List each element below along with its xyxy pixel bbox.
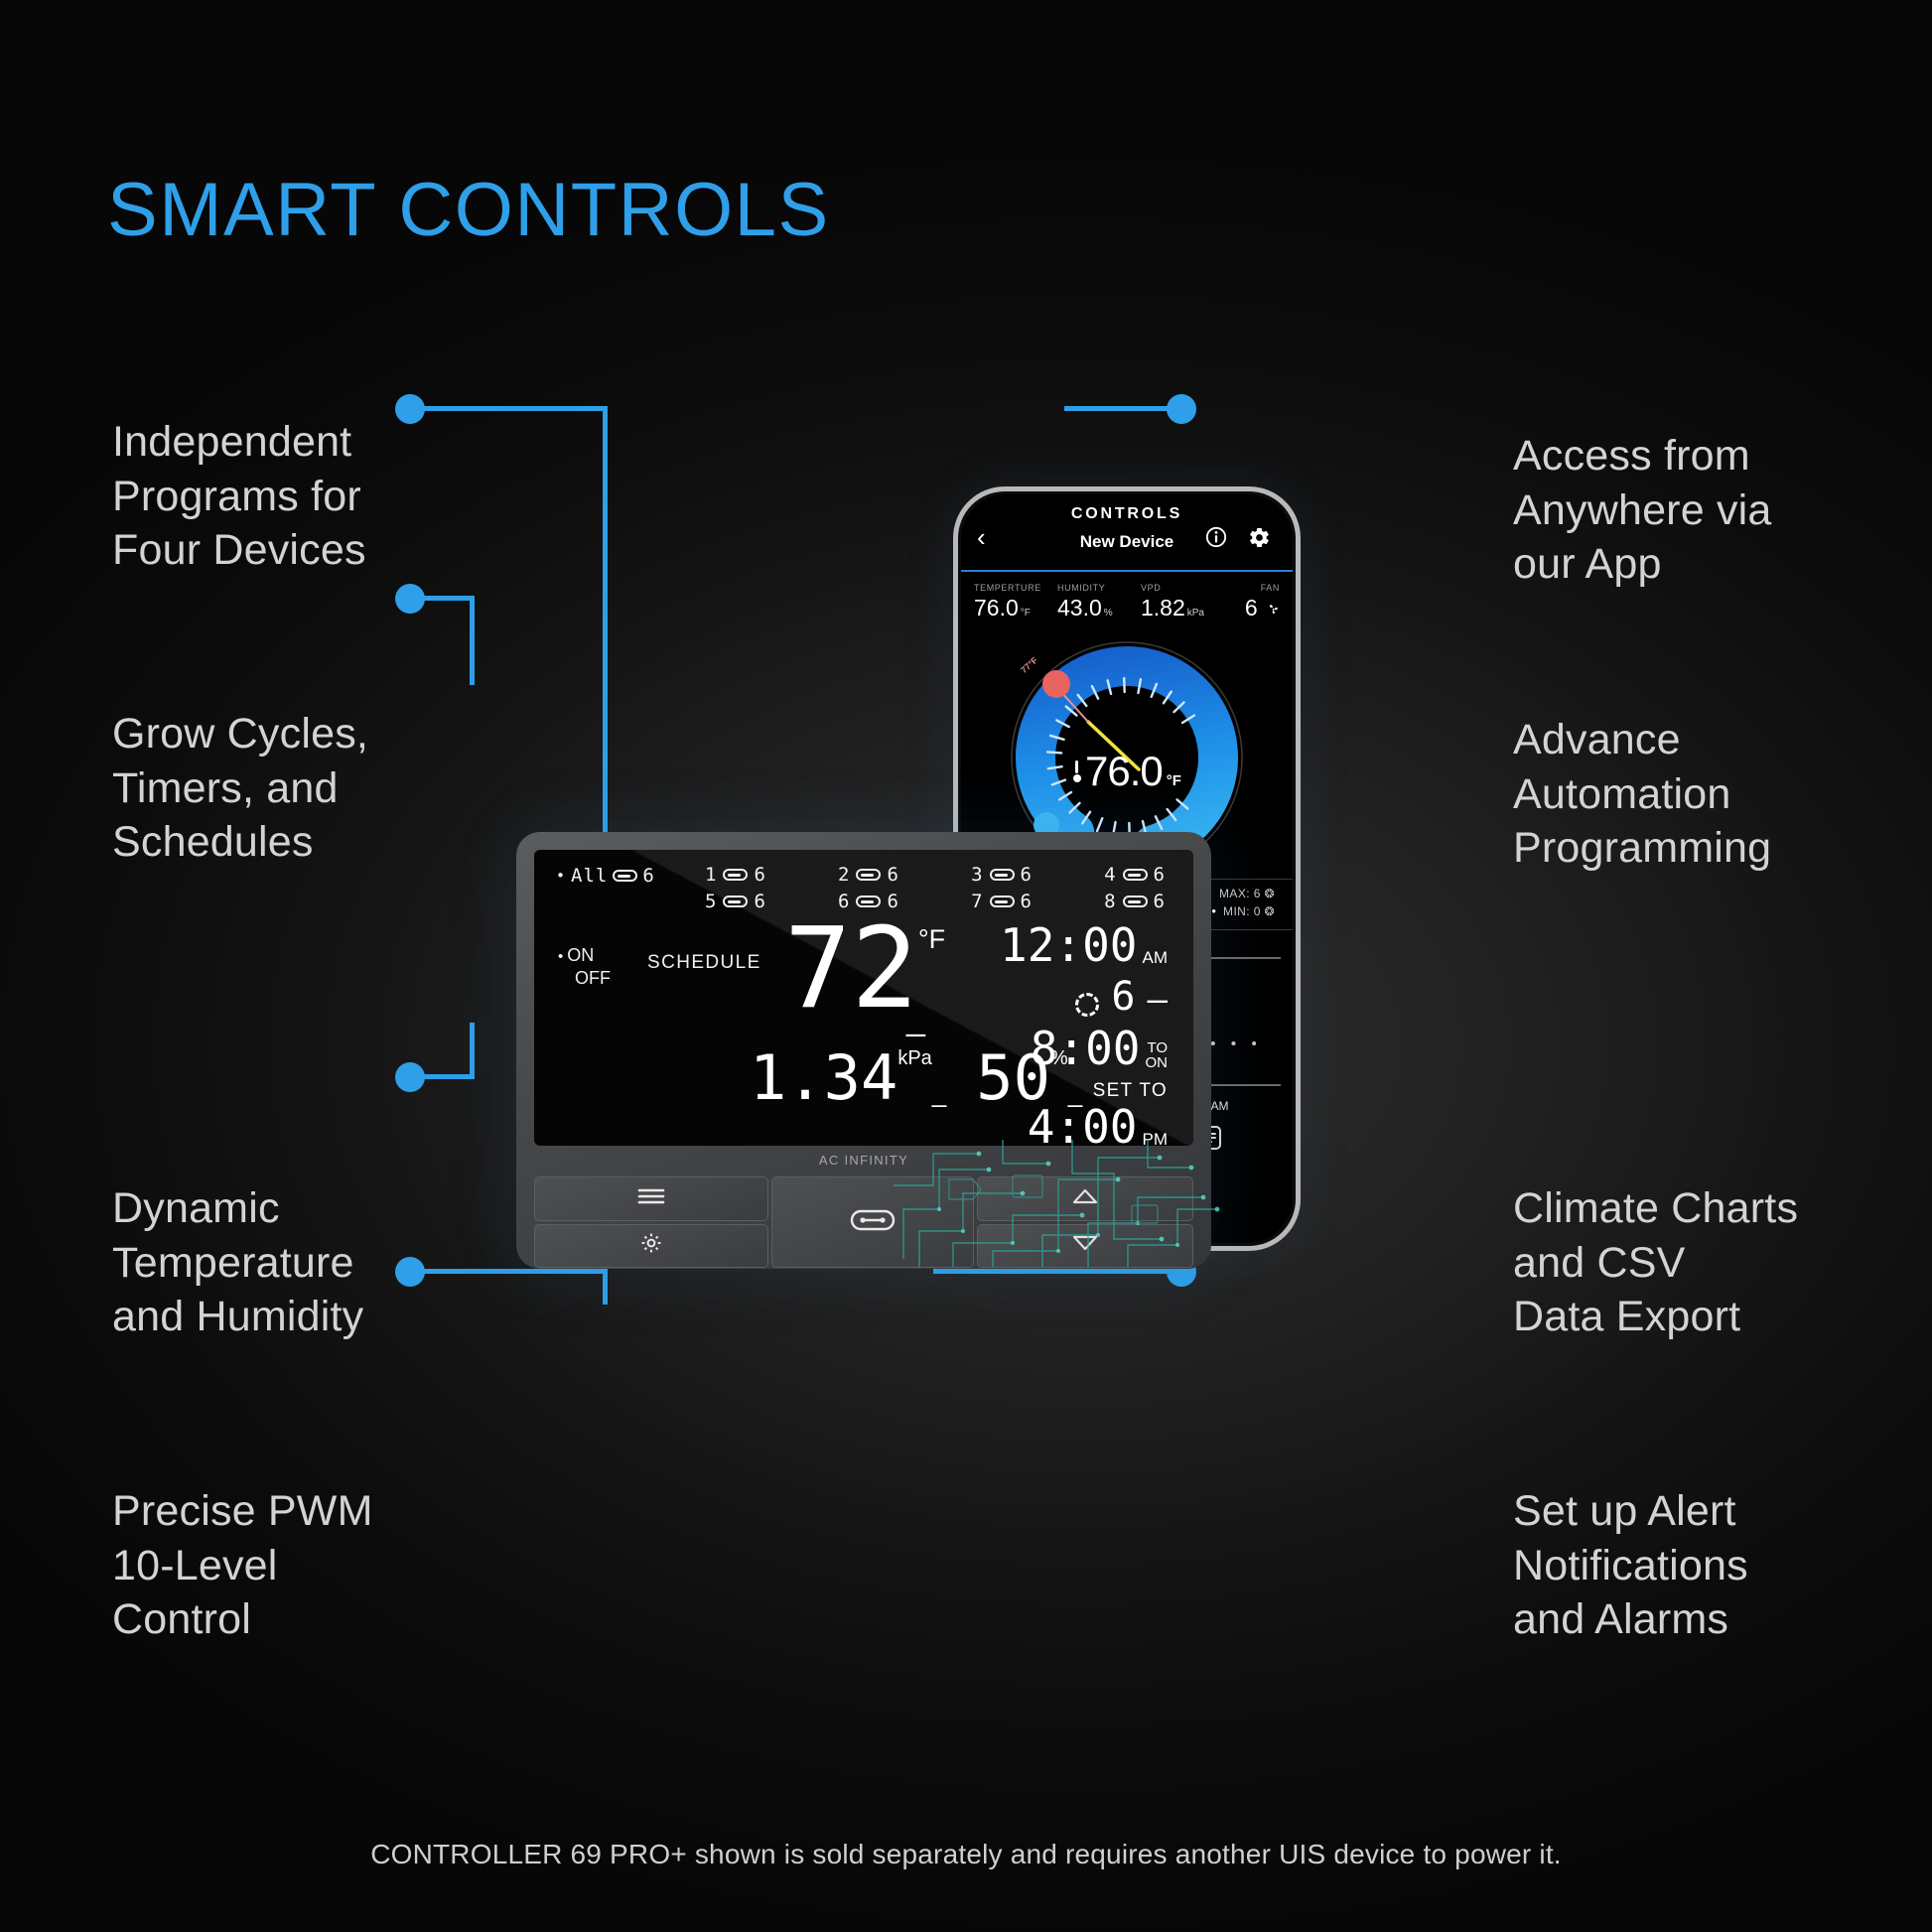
max-value: 6 bbox=[1254, 887, 1261, 900]
lcd-ports: 16 56 26 66 36 76 46 86 bbox=[705, 864, 1172, 912]
lcd-timer-toon: TO ON bbox=[1146, 1040, 1169, 1072]
port-7: 76 bbox=[971, 891, 1033, 912]
lcd-schedule-label: SCHEDULE bbox=[647, 952, 761, 974]
controller-lcd-screen: • All 6 16 56 26 66 36 7 bbox=[534, 850, 1193, 1146]
controller-brand: AC INFINITY bbox=[534, 1146, 1193, 1176]
all-bullet-icon: • bbox=[556, 867, 566, 885]
infographic-stage: SMART CONTROLS Independent Programs for … bbox=[0, 0, 1932, 1932]
port-pill-icon bbox=[1123, 896, 1148, 907]
lcd-main-area: •ON OFF SCHEDULE 72 °F _ 1.34 kPa _ bbox=[556, 922, 1172, 1146]
port-pill-icon bbox=[723, 869, 748, 881]
lcd-setto-label: SET TO bbox=[959, 1080, 1168, 1102]
feature-label-dynamic-temp: Dynamic Temperature and Humidity bbox=[112, 1181, 363, 1344]
stat-label: TEMPERTURE bbox=[974, 583, 1053, 593]
info-icon[interactable] bbox=[1205, 526, 1227, 553]
port-3: 36 bbox=[971, 864, 1033, 886]
connector-line bbox=[1064, 406, 1173, 411]
gauge-value: 76.0 bbox=[1085, 748, 1163, 795]
lcd-clock-ampm: AM bbox=[1143, 948, 1169, 968]
settings-button[interactable] bbox=[534, 1224, 768, 1269]
stat-value: 76.0°F bbox=[974, 595, 1053, 621]
connector-line bbox=[933, 1269, 1173, 1274]
stat-temperature: TEMPERTURE 76.0°F bbox=[974, 583, 1053, 621]
connector-line bbox=[470, 1023, 475, 1077]
lcd-fan-level: 6 – bbox=[959, 977, 1168, 1017]
lcd-setto: 4:00 PM bbox=[959, 1104, 1168, 1146]
all-label: All bbox=[571, 865, 608, 887]
port-5: 56 bbox=[705, 891, 766, 912]
feature-label-access-anywhere: Access from Anywhere via our App bbox=[1513, 429, 1772, 592]
connector-line bbox=[423, 1074, 475, 1079]
min-bullet-icon: • bbox=[1211, 903, 1216, 918]
stat-value: 43.0% bbox=[1057, 595, 1137, 621]
stat-unit: kPa bbox=[1187, 608, 1204, 619]
phone-device-name: New Device bbox=[961, 532, 1293, 552]
phone-stat-row: TEMPERTURE 76.0°F HUMIDITY 43.0% VPD 1.8… bbox=[961, 572, 1293, 630]
port-1: 16 bbox=[705, 864, 766, 886]
connector-dot-independent-programs bbox=[395, 394, 425, 424]
port-column: 16 56 bbox=[705, 864, 766, 912]
stat-unit: °F bbox=[1021, 608, 1031, 619]
lcd-timer-on: ON bbox=[1146, 1055, 1169, 1071]
connector-line bbox=[423, 1269, 608, 1274]
controller-left-buttons bbox=[534, 1176, 768, 1268]
port-column: 36 76 bbox=[971, 864, 1033, 912]
lcd-setto-ampm: PM bbox=[1143, 1130, 1169, 1146]
gauge-readout: 76.0 °F bbox=[1072, 748, 1181, 795]
gauge-handle-high bbox=[1042, 670, 1070, 698]
controller-arrow-buttons bbox=[977, 1176, 1193, 1268]
page-title: SMART CONTROLS bbox=[107, 167, 830, 253]
controller-button-row bbox=[534, 1176, 1193, 1268]
port-column: 46 86 bbox=[1104, 864, 1166, 912]
on-bullet-icon: • bbox=[558, 948, 563, 965]
lcd-setto-value: 4:00 bbox=[1028, 1104, 1138, 1146]
port-pill-icon bbox=[613, 870, 637, 882]
feature-label-precise-pwm: Precise PWM 10-Level Control bbox=[112, 1484, 373, 1647]
stat-value: 1.82kPa bbox=[1141, 595, 1220, 621]
lcd-vpd-value: 1.34 bbox=[750, 1047, 897, 1109]
port-pill-icon bbox=[990, 869, 1015, 881]
port-pill-icon bbox=[856, 869, 881, 881]
connector-line bbox=[470, 596, 475, 685]
lcd-timer: 8:00 TO ON bbox=[959, 1026, 1168, 1071]
stat-unit: % bbox=[1104, 608, 1113, 619]
lcd-vpd-unit: kPa bbox=[897, 1047, 931, 1070]
all-value: 6 bbox=[642, 865, 654, 887]
port-pill-icon bbox=[1123, 869, 1148, 881]
max-label: MAX: bbox=[1219, 887, 1250, 900]
feature-label-independent-programs: Independent Programs for Four Devices bbox=[112, 415, 366, 578]
feature-label-grow-cycles: Grow Cycles, Timers, and Schedules bbox=[112, 707, 368, 870]
lcd-fan-value: 6 bbox=[1111, 977, 1135, 1017]
port-8: 86 bbox=[1104, 891, 1166, 912]
menu-button[interactable] bbox=[534, 1176, 768, 1221]
lcd-timer-to: TO bbox=[1146, 1040, 1169, 1056]
stat-vpd: VPD 1.82kPa bbox=[1141, 583, 1220, 621]
stat-label: FAN bbox=[1224, 583, 1280, 593]
gear-icon bbox=[639, 1231, 663, 1260]
phone-app-header: ‹ CONTROLS New Device bbox=[961, 494, 1293, 572]
fan-icon: ❂ bbox=[1265, 904, 1275, 918]
lcd-temp-unit: °F bbox=[918, 918, 945, 955]
thermometer-icon bbox=[1072, 760, 1081, 782]
feature-label-alert-notifications: Set up Alert Notifications and Alarms bbox=[1513, 1484, 1748, 1647]
port-2: 26 bbox=[838, 864, 899, 886]
fan-icon bbox=[1267, 595, 1280, 621]
lcd-temp-dash: _ bbox=[906, 1000, 925, 1038]
controller-device: • All 6 16 56 26 66 36 7 bbox=[516, 832, 1211, 1269]
min-label: MIN: bbox=[1223, 904, 1250, 918]
stat-label: HUMIDITY bbox=[1057, 583, 1137, 593]
lcd-fan-dash: – bbox=[1148, 983, 1168, 1017]
hamburger-menu-icon bbox=[636, 1186, 666, 1211]
lcd-all-group: • All 6 bbox=[556, 864, 705, 887]
connector-dot-dynamic-temp bbox=[395, 1062, 425, 1092]
lcd-vpd: 1.34 kPa _ bbox=[750, 1047, 946, 1109]
port-pill-icon bbox=[723, 896, 748, 907]
stat-value: 6 bbox=[1224, 595, 1280, 621]
fan-dashed-icon bbox=[1075, 993, 1099, 1017]
port-pill-icon bbox=[850, 1209, 896, 1236]
port-4: 46 bbox=[1104, 864, 1166, 886]
lcd-timer-value: 8:00 bbox=[1031, 1026, 1141, 1071]
stat-humidity: HUMIDITY 43.0% bbox=[1057, 583, 1137, 621]
feature-label-climate-charts: Climate Charts and CSV Data Export bbox=[1513, 1181, 1798, 1344]
off-label: OFF bbox=[575, 968, 611, 988]
lcd-vpd-dash: _ bbox=[932, 1078, 946, 1109]
chevron-down-icon bbox=[1072, 1235, 1098, 1256]
gauge-unit: °F bbox=[1167, 772, 1181, 789]
connector-line bbox=[423, 406, 608, 411]
connector-line bbox=[423, 596, 475, 601]
connector-dot-precise-pwm bbox=[395, 1257, 425, 1287]
port-pill-icon bbox=[990, 896, 1015, 907]
lcd-clock-value: 12:00 bbox=[1000, 922, 1137, 968]
lcd-right-column: 12:00 AM 6 – 8:00 TO ON bbox=[959, 922, 1168, 1146]
lcd-temp-value: 72 bbox=[784, 918, 918, 1021]
on-label: ON bbox=[567, 945, 594, 965]
down-button[interactable] bbox=[977, 1224, 1193, 1269]
gear-icon[interactable] bbox=[1248, 526, 1271, 554]
chevron-up-icon bbox=[1072, 1188, 1098, 1209]
fan-icon: ❂ bbox=[1265, 887, 1275, 900]
stat-fan: FAN 6 bbox=[1224, 583, 1280, 621]
lcd-clock: 12:00 AM bbox=[959, 922, 1168, 968]
footer-disclaimer: CONTROLLER 69 PRO+ shown is sold separat… bbox=[0, 1839, 1932, 1870]
lcd-onoff-indicator: •ON OFF bbox=[558, 944, 611, 989]
stat-label: VPD bbox=[1141, 583, 1220, 593]
port-button[interactable] bbox=[771, 1176, 974, 1268]
min-value: 0 bbox=[1254, 904, 1261, 918]
connector-dot-grow-cycles bbox=[395, 584, 425, 614]
feature-label-advance-automation: Advance Automation Programming bbox=[1513, 713, 1771, 876]
phone-app-title: CONTROLS bbox=[961, 505, 1293, 523]
up-button[interactable] bbox=[977, 1176, 1193, 1221]
